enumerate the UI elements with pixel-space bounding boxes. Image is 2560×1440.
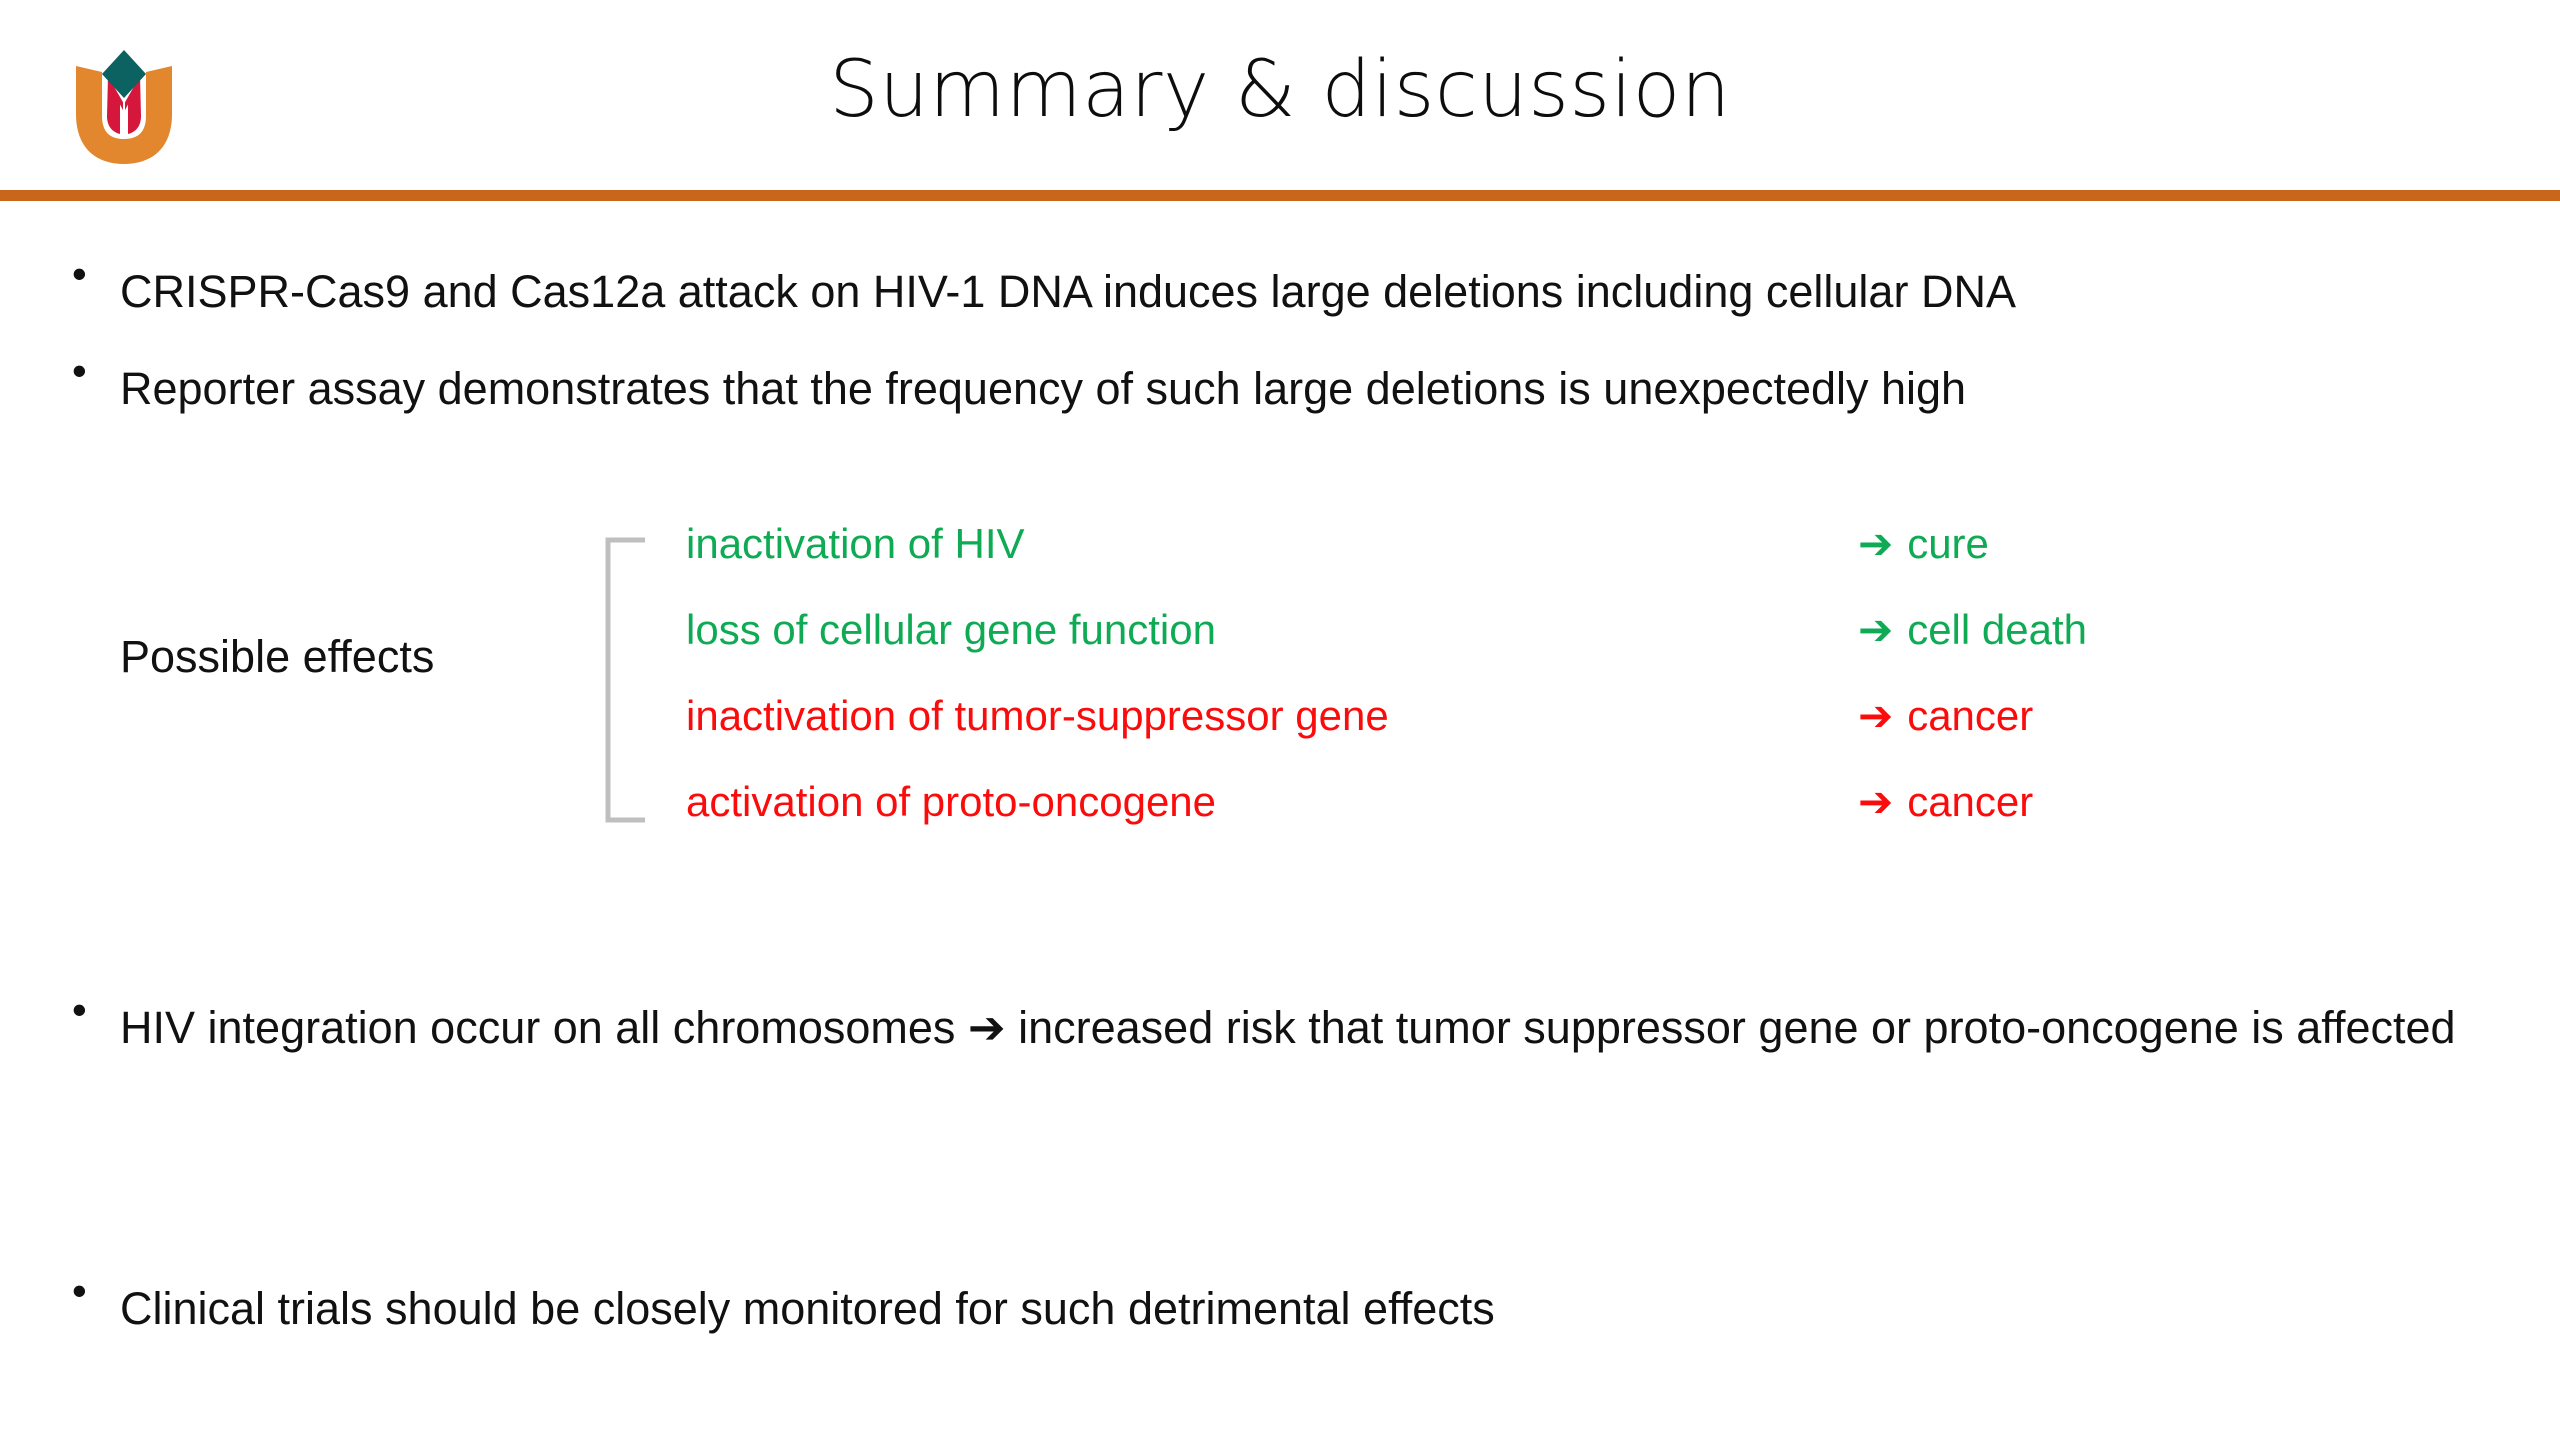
effect-cause: activation of proto-oncogene <box>686 759 1216 845</box>
bullet-text-3-after: increased risk that tumor suppressor gen… <box>1006 1002 2456 1053</box>
effect-row: activation of proto-oncogene ➔cancer <box>686 759 2486 845</box>
effect-result: ➔cure <box>1858 501 1989 587</box>
header-divider-rule <box>0 190 2560 201</box>
left-curly-bracket-icon <box>603 537 645 823</box>
effect-row: inactivation of HIV ➔cure <box>686 501 2486 587</box>
effect-cause: inactivation of tumor-suppressor gene <box>686 673 1389 759</box>
arrow-right-icon: ➔ <box>1858 519 1893 568</box>
effect-result: ➔cancer <box>1858 673 2033 759</box>
bullet-text-3: HIV integration occur on all chromosomes… <box>120 979 2480 1076</box>
effect-result: ➔cancer <box>1858 759 2033 845</box>
bullet-marker-icon: • <box>72 243 120 305</box>
effect-row: inactivation of tumor-suppressor gene ➔c… <box>686 673 2486 759</box>
effect-result-label: cell death <box>1907 606 2087 653</box>
arrow-right-icon: ➔ <box>968 1001 1006 1054</box>
slide: Summary & discussion • CRISPR-Cas9 and C… <box>0 0 2560 1440</box>
bullet-item-1: • CRISPR-Cas9 and Cas12a attack on HIV-1… <box>72 243 2492 340</box>
bullet-item-2: • Reporter assay demonstrates that the f… <box>72 340 2492 437</box>
bullet-text-1: CRISPR-Cas9 and Cas12a attack on HIV-1 D… <box>120 243 2492 340</box>
effect-result: ➔cell death <box>1858 587 2087 673</box>
arrow-right-icon: ➔ <box>1858 691 1893 740</box>
effect-cause: loss of cellular gene function <box>686 587 1216 673</box>
bullet-text-3-before: HIV integration occur on all chromosomes <box>120 1002 968 1053</box>
bullet-marker-icon: • <box>72 979 120 1041</box>
bullet-text-4: Clinical trials should be closely monito… <box>120 1260 2492 1357</box>
effect-result-label: cure <box>1907 520 1989 567</box>
bullet-item-4: • Clinical trials should be closely moni… <box>72 1260 2492 1357</box>
bullet-text-2: Reporter assay demonstrates that the fre… <box>120 340 2492 437</box>
page-title: Summary & discussion <box>0 40 2560 140</box>
possible-effects-label: Possible effects <box>120 629 434 685</box>
bullet-marker-icon: • <box>72 340 120 402</box>
effect-cause: inactivation of HIV <box>686 501 1025 587</box>
possible-effects-group: Possible effects inactivation of HIV ➔cu… <box>0 501 2560 841</box>
slide-header: Summary & discussion <box>0 0 2560 192</box>
slide-body: • CRISPR-Cas9 and Cas12a attack on HIV-1… <box>0 201 2560 1440</box>
bullet-marker-icon: • <box>72 1260 120 1322</box>
effects-list: inactivation of HIV ➔cure loss of cellul… <box>686 501 2486 845</box>
arrow-right-icon: ➔ <box>1858 605 1893 654</box>
effect-row: loss of cellular gene function ➔cell dea… <box>686 587 2486 673</box>
effect-result-label: cancer <box>1907 692 2033 739</box>
bullet-item-3: • HIV integration occur on all chromosom… <box>72 979 2502 1076</box>
arrow-right-icon: ➔ <box>1858 777 1893 826</box>
effect-result-label: cancer <box>1907 778 2033 825</box>
